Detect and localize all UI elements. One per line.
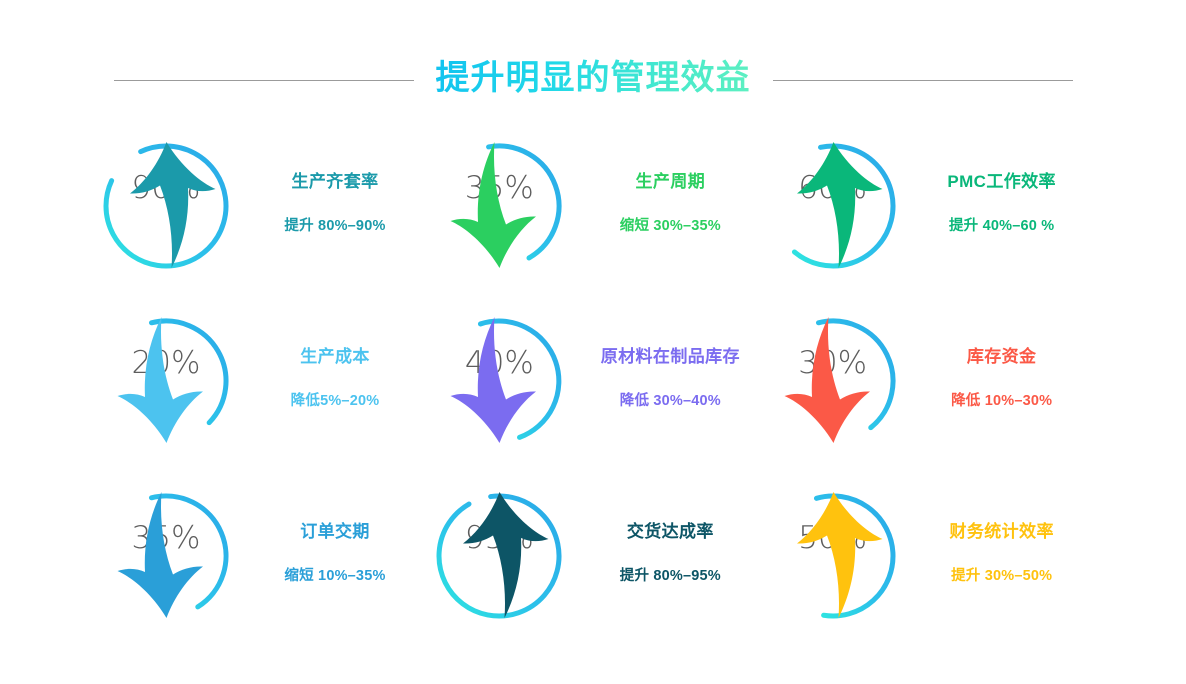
metric-card[interactable]: 60% PMC工作效率 提升 40%–60 %: [763, 118, 1096, 293]
arrow-down-icon: [486, 380, 512, 410]
metric-text-block: 交货达成率 提升 80%–95%: [595, 522, 745, 589]
infographic-page: 提升明显的管理效益 90%: [0, 0, 1186, 684]
metric-title: 生产周期: [636, 172, 706, 192]
arrow-up-icon: [820, 555, 846, 585]
metric-title: PMC工作效率: [947, 172, 1056, 192]
progress-ring: 95%: [429, 486, 569, 626]
metric-title: 生产齐套率: [292, 172, 379, 192]
arrow-down-icon: [486, 205, 512, 235]
ring-center: 35%: [96, 486, 236, 626]
arrow-up-icon: [820, 205, 846, 235]
title-divider-right: [773, 80, 1073, 81]
progress-ring: 35%: [96, 486, 236, 626]
metric-card[interactable]: 40% 原材料在制品库存 降低 30%–40%: [429, 293, 762, 468]
metric-title: 生产成本: [300, 347, 370, 367]
metric-subtitle: 降低 10%–30%: [951, 393, 1052, 410]
title-divider-left: [114, 80, 414, 81]
ring-center: 90%: [96, 136, 236, 276]
arrow-down-icon: [153, 380, 179, 410]
metric-card[interactable]: 20% 生产成本 降低5%–20%: [96, 293, 429, 468]
metric-title: 原材料在制品库存: [601, 347, 740, 367]
metric-title: 库存资金: [967, 347, 1037, 367]
metric-card[interactable]: 30% 库存资金 降低 10%–30%: [763, 293, 1096, 468]
arrow-up-icon: [486, 555, 512, 585]
arrow-up-icon: [153, 205, 179, 235]
ring-center: 20%: [96, 311, 236, 451]
page-header: 提升明显的管理效益: [0, 52, 1186, 108]
metric-text-block: 库存资金 降低 10%–30%: [927, 347, 1077, 414]
arrow-down-icon: [153, 555, 179, 585]
metric-card[interactable]: 95% 交货达成率 提升 80%–95%: [429, 468, 762, 643]
metric-text-block: 原材料在制品库存 降低 30%–40%: [595, 347, 745, 414]
metric-text-block: 生产成本 降低5%–20%: [260, 347, 410, 414]
metric-text-block: 订单交期 缩短 10%–35%: [260, 522, 410, 589]
ring-center: 60%: [763, 136, 903, 276]
page-title: 提升明显的管理效益: [436, 56, 751, 105]
metric-text-block: 财务统计效率 提升 30%–50%: [927, 522, 1077, 589]
metric-subtitle: 缩短 10%–35%: [284, 568, 385, 585]
ring-center: 40%: [429, 311, 569, 451]
metric-subtitle: 降低5%–20%: [291, 393, 380, 410]
metric-text-block: 生产齐套率 提升 80%–90%: [260, 172, 410, 239]
progress-ring: 60%: [763, 136, 903, 276]
metric-subtitle: 降低 30%–40%: [620, 393, 721, 410]
metric-card-grid: 90% 生产齐套率 提升 80%–90%: [96, 118, 1096, 658]
ring-center: 50%: [763, 486, 903, 626]
progress-ring: 35%: [429, 136, 569, 276]
metric-text-block: 生产周期 缩短 30%–35%: [595, 172, 745, 239]
progress-ring: 30%: [763, 311, 903, 451]
metric-title: 交货达成率: [627, 522, 714, 542]
ring-center: 30%: [763, 311, 903, 451]
progress-ring: 20%: [96, 311, 236, 451]
progress-ring: 90%: [96, 136, 236, 276]
ring-center: 95%: [429, 486, 569, 626]
metric-subtitle: 缩短 30%–35%: [620, 218, 721, 235]
metric-card[interactable]: 35% 订单交期 缩短 10%–35%: [96, 468, 429, 643]
metric-subtitle: 提升 30%–50%: [951, 568, 1052, 585]
metric-card[interactable]: 90% 生产齐套率 提升 80%–90%: [96, 118, 429, 293]
metric-text-block: PMC工作效率 提升 40%–60 %: [927, 172, 1077, 239]
arrow-down-icon: [820, 380, 846, 410]
metric-subtitle: 提升 80%–95%: [620, 568, 721, 585]
progress-ring: 50%: [763, 486, 903, 626]
metric-subtitle: 提升 40%–60 %: [949, 218, 1054, 235]
metric-subtitle: 提升 80%–90%: [284, 218, 385, 235]
ring-center: 35%: [429, 136, 569, 276]
metric-card[interactable]: 35% 生产周期 缩短 30%–35%: [429, 118, 762, 293]
metric-card[interactable]: 50% 财务统计效率 提升 30%–50%: [763, 468, 1096, 643]
progress-ring: 40%: [429, 311, 569, 451]
metric-title: 财务统计效率: [949, 522, 1053, 542]
metric-title: 订单交期: [300, 522, 370, 542]
